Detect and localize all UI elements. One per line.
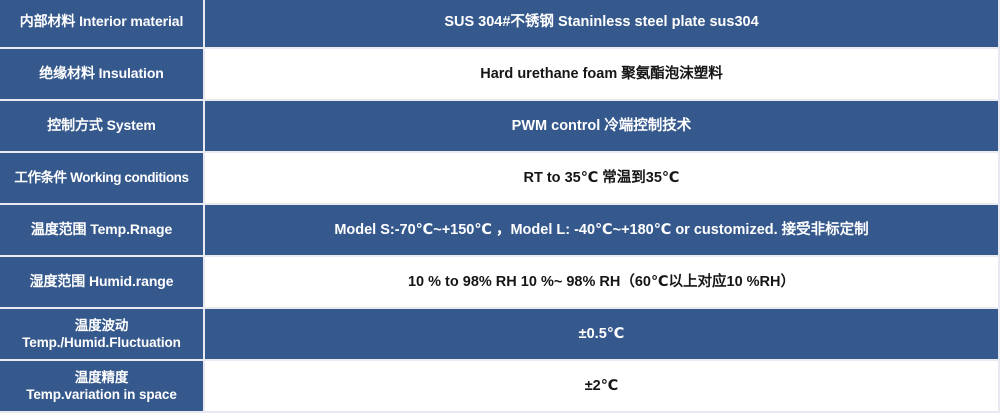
table-row: 湿度范围 Humid.range 10 % to 98% RH 10 %~ 98…	[0, 257, 1000, 309]
row-label-line: 工作条件 Working conditions	[6, 169, 197, 186]
row-value-temp-humid-fluctuation: ±0.5℃	[205, 309, 1000, 361]
row-label-working-conditions: 工作条件 Working conditions	[0, 153, 205, 205]
row-label-line: 温度范围 Temp.Rnage	[6, 221, 197, 239]
row-label-system: 控制方式 System	[0, 101, 205, 153]
row-value-insulation: Hard urethane foam 聚氨酯泡沫塑料	[205, 49, 1000, 101]
row-label-humidity-range: 湿度范围 Humid.range	[0, 257, 205, 309]
row-value-working-conditions: RT to 35℃ 常温到35℃	[205, 153, 1000, 205]
row-label-line: 内部材料 Interior material	[6, 13, 197, 31]
row-label-line: 控制方式 System	[6, 117, 197, 135]
table-row: 温度精度 Temp.variation in space ±2℃	[0, 361, 1000, 413]
table-row: 绝缘材料 Insulation Hard urethane foam 聚氨酯泡沫…	[0, 49, 1000, 101]
row-label-line: Temp.variation in space	[6, 386, 197, 403]
specification-table-body: 内部材料 Interior material SUS 304#不锈钢 Stani…	[0, 0, 1000, 413]
row-value-system: PWM control 冷端控制技术	[205, 101, 1000, 153]
row-label-line: 温度精度	[6, 369, 197, 386]
specification-table: 内部材料 Interior material SUS 304#不锈钢 Stani…	[0, 0, 1000, 413]
table-row: 控制方式 System PWM control 冷端控制技术	[0, 101, 1000, 153]
row-label-temp-humid-fluctuation: 温度波动 Temp./Humid.Fluctuation	[0, 309, 205, 361]
row-label-insulation: 绝缘材料 Insulation	[0, 49, 205, 101]
row-value-interior-material: SUS 304#不锈钢 Staninless steel plate sus30…	[205, 0, 1000, 49]
row-value-temp-range: Model S:-70℃~+150℃ ，Model L: -40℃~+180℃ …	[205, 205, 1000, 257]
row-label-temp-range: 温度范围 Temp.Rnage	[0, 205, 205, 257]
table-row: 内部材料 Interior material SUS 304#不锈钢 Stani…	[0, 0, 1000, 49]
table-row: 工作条件 Working conditions RT to 35℃ 常温到35℃	[0, 153, 1000, 205]
row-label-line: 绝缘材料 Insulation	[6, 65, 197, 83]
row-label-interior-material: 内部材料 Interior material	[0, 0, 205, 49]
row-value-temp-variation-in-space: ±2℃	[205, 361, 1000, 413]
row-value-humidity-range: 10 % to 98% RH 10 %~ 98% RH（60℃以上对应10 %R…	[205, 257, 1000, 309]
row-label-line: 温度波动	[6, 317, 197, 334]
table-row: 温度波动 Temp./Humid.Fluctuation ±0.5℃	[0, 309, 1000, 361]
row-label-temp-variation-in-space: 温度精度 Temp.variation in space	[0, 361, 205, 413]
table-row: 温度范围 Temp.Rnage Model S:-70℃~+150℃ ，Mode…	[0, 205, 1000, 257]
row-label-line: 湿度范围 Humid.range	[6, 273, 197, 291]
row-label-line: Temp./Humid.Fluctuation	[6, 334, 197, 351]
